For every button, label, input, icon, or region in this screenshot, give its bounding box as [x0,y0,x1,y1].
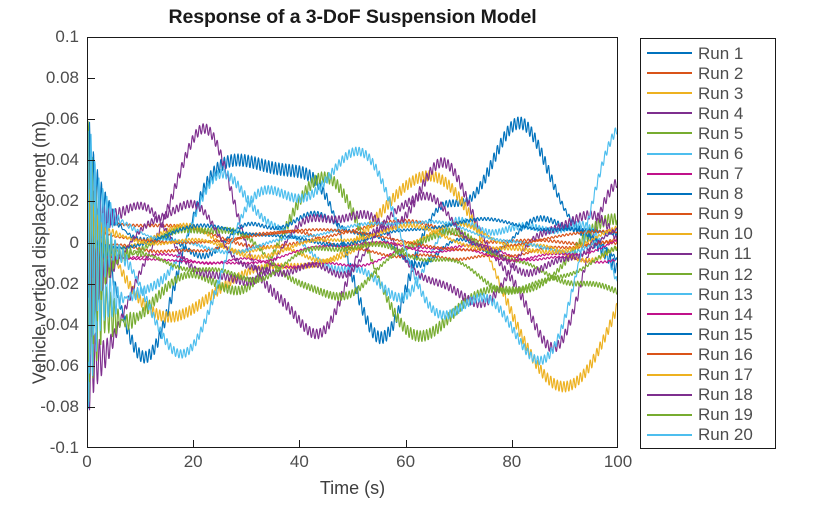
y-tick-mark [87,325,95,326]
legend-item[interactable]: Run 14 [641,304,775,324]
legend-color-swatch [647,313,692,315]
legend-item[interactable]: Run 16 [641,344,775,364]
legend-box[interactable]: Run 1Run 2Run 3Run 4Run 5Run 6Run 7Run 8… [640,38,776,449]
y-tick-mark [87,160,95,161]
figure-canvas: Response of a 3-DoF Suspension Model -0.… [0,0,840,505]
legend-color-swatch [647,253,692,255]
legend-item[interactable]: Run 8 [641,184,775,204]
legend-label: Run 12 [698,266,753,283]
legend-color-swatch [647,374,692,376]
legend-color-swatch [647,193,692,195]
legend-item[interactable]: Run 17 [641,365,775,385]
legend-color-swatch [647,92,692,94]
legend-item[interactable]: Run 6 [641,143,775,163]
x-tick-label: 80 [502,452,521,472]
legend-label: Run 5 [698,125,743,142]
legend-color-swatch [647,394,692,396]
y-tick-label: 0.08 [46,68,79,88]
x-tick-mark [406,440,407,448]
x-tick-label: 100 [604,452,632,472]
x-tick-label: 20 [184,452,203,472]
legend-label: Run 14 [698,306,753,323]
y-tick-mark [87,407,95,408]
legend-label: Run 6 [698,145,743,162]
legend-label: Run 17 [698,366,753,383]
legend-item[interactable]: Run 19 [641,405,775,425]
y-tick-mark [87,243,95,244]
legend-item[interactable]: Run 12 [641,264,775,284]
legend-item[interactable]: Run 7 [641,164,775,184]
y-tick-mark [87,78,95,79]
legend-color-swatch [647,153,692,155]
legend-label: Run 7 [698,165,743,182]
y-tick-mark [87,284,95,285]
y-tick-label: 0 [70,233,79,253]
legend-label: Run 20 [698,426,753,443]
x-tick-mark [299,440,300,448]
legend-color-swatch [647,353,692,355]
y-tick-mark [87,119,95,120]
legend-color-swatch [647,293,692,295]
x-axis-label: Time (s) [87,478,618,499]
legend-label: Run 10 [698,225,753,242]
legend-color-swatch [647,72,692,74]
legend-item[interactable]: Run 20 [641,425,775,445]
legend-label: Run 15 [698,326,753,343]
x-tick-label: 60 [396,452,415,472]
plot-area [88,38,617,447]
legend-label: Run 8 [698,185,743,202]
legend-item[interactable]: Run 4 [641,103,775,123]
legend-color-swatch [647,233,692,235]
legend-item[interactable]: Run 2 [641,63,775,83]
legend-item[interactable]: Run 10 [641,224,775,244]
y-tick-label: 0.04 [46,150,79,170]
y-tick-mark [87,201,95,202]
legend-label: Run 11 [698,245,752,262]
legend-item[interactable]: Run 1 [641,43,775,63]
legend-item[interactable]: Run 11 [641,244,775,264]
legend-item[interactable]: Run 18 [641,385,775,405]
y-axis-label: Vehicle vertical displacement (m) [30,43,51,463]
legend-color-swatch [647,132,692,134]
legend-color-swatch [647,52,692,54]
x-tick-mark [193,440,194,448]
legend-item[interactable]: Run 3 [641,83,775,103]
y-tick-mark [87,366,95,367]
legend-color-swatch [647,333,692,335]
legend-item[interactable]: Run 13 [641,284,775,304]
legend-color-swatch [647,213,692,215]
x-tick-mark [512,440,513,448]
legend-color-swatch [647,112,692,114]
legend-label: Run 3 [698,85,743,102]
legend-item[interactable]: Run 15 [641,324,775,344]
legend-color-swatch [647,173,692,175]
legend-label: Run 19 [698,406,753,423]
y-tick-label: 0.06 [46,109,79,129]
y-tick-label: 0.02 [46,191,79,211]
x-tick-label: 40 [290,452,309,472]
legend-label: Run 13 [698,286,753,303]
y-tick-label: 0.1 [55,27,79,47]
legend-label: Run 9 [698,205,743,222]
legend-label: Run 18 [698,386,753,403]
y-tick-label: -0.1 [50,438,79,458]
series-lines [88,38,617,447]
legend-color-swatch [647,414,692,416]
legend-label: Run 4 [698,105,743,122]
legend-label: Run 16 [698,346,753,363]
page-title: Response of a 3-DoF Suspension Model [87,6,618,29]
legend-label: Run 2 [698,65,743,82]
legend-color-swatch [647,434,692,436]
x-tick-label: 0 [82,452,91,472]
legend-item[interactable]: Run 5 [641,123,775,143]
legend-label: Run 1 [698,45,743,62]
legend-color-swatch [647,273,692,275]
plot-axes [87,37,618,448]
legend-item[interactable]: Run 9 [641,204,775,224]
